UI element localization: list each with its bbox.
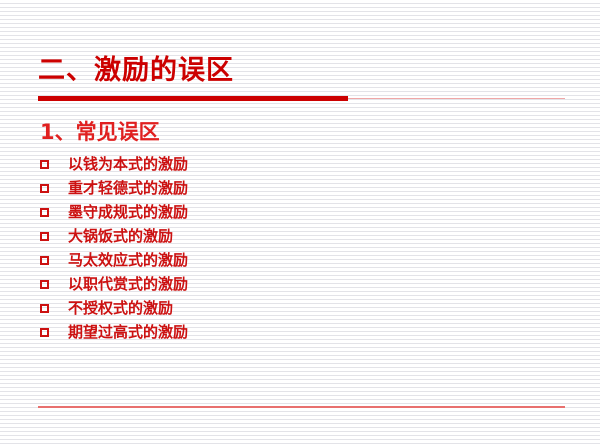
list-item: 以钱为本式的激励 xyxy=(40,152,440,176)
page-title: 二、激励的误区 xyxy=(38,52,568,90)
list-item-label: 以钱为本式的激励 xyxy=(68,155,188,173)
title-underline-thick xyxy=(38,96,348,101)
title-underline xyxy=(38,96,565,101)
list-item: 重才轻德式的激励 xyxy=(40,176,440,200)
list-item: 期望过高式的激励 xyxy=(40,320,440,344)
list-item-label: 重才轻德式的激励 xyxy=(68,179,188,197)
hollow-square-icon xyxy=(40,160,49,169)
section-subtitle: 1、常见误区 xyxy=(40,119,160,145)
hollow-square-icon xyxy=(40,280,49,289)
list-item: 马太效应式的激励 xyxy=(40,248,440,272)
list-item-label: 不授权式的激励 xyxy=(68,299,173,317)
hollow-square-icon xyxy=(40,232,49,241)
hollow-square-icon xyxy=(40,304,49,313)
list-item-label: 以职代赏式的激励 xyxy=(68,275,188,293)
bullet-list: 以钱为本式的激励 重才轻德式的激励 墨守成规式的激励 大锅饭式的激励 马太效应式… xyxy=(40,152,440,344)
hollow-square-icon xyxy=(40,184,49,193)
footer-divider xyxy=(38,406,565,408)
list-item: 大锅饭式的激励 xyxy=(40,224,440,248)
title-underline-thin xyxy=(348,98,565,99)
title-block: 二、激励的误区 xyxy=(38,52,568,90)
slide-canvas: 二、激励的误区 1、常见误区 以钱为本式的激励 重才轻德式的激励 墨守成规式的激… xyxy=(0,0,600,447)
list-item: 墨守成规式的激励 xyxy=(40,200,440,224)
list-item-label: 大锅饭式的激励 xyxy=(68,227,173,245)
hollow-square-icon xyxy=(40,208,49,217)
list-item-label: 墨守成规式的激励 xyxy=(68,203,188,221)
hollow-square-icon xyxy=(40,256,49,265)
list-item: 不授权式的激励 xyxy=(40,296,440,320)
list-item-label: 期望过高式的激励 xyxy=(68,323,188,341)
list-item-label: 马太效应式的激励 xyxy=(68,251,188,269)
list-item: 以职代赏式的激励 xyxy=(40,272,440,296)
hollow-square-icon xyxy=(40,328,49,337)
